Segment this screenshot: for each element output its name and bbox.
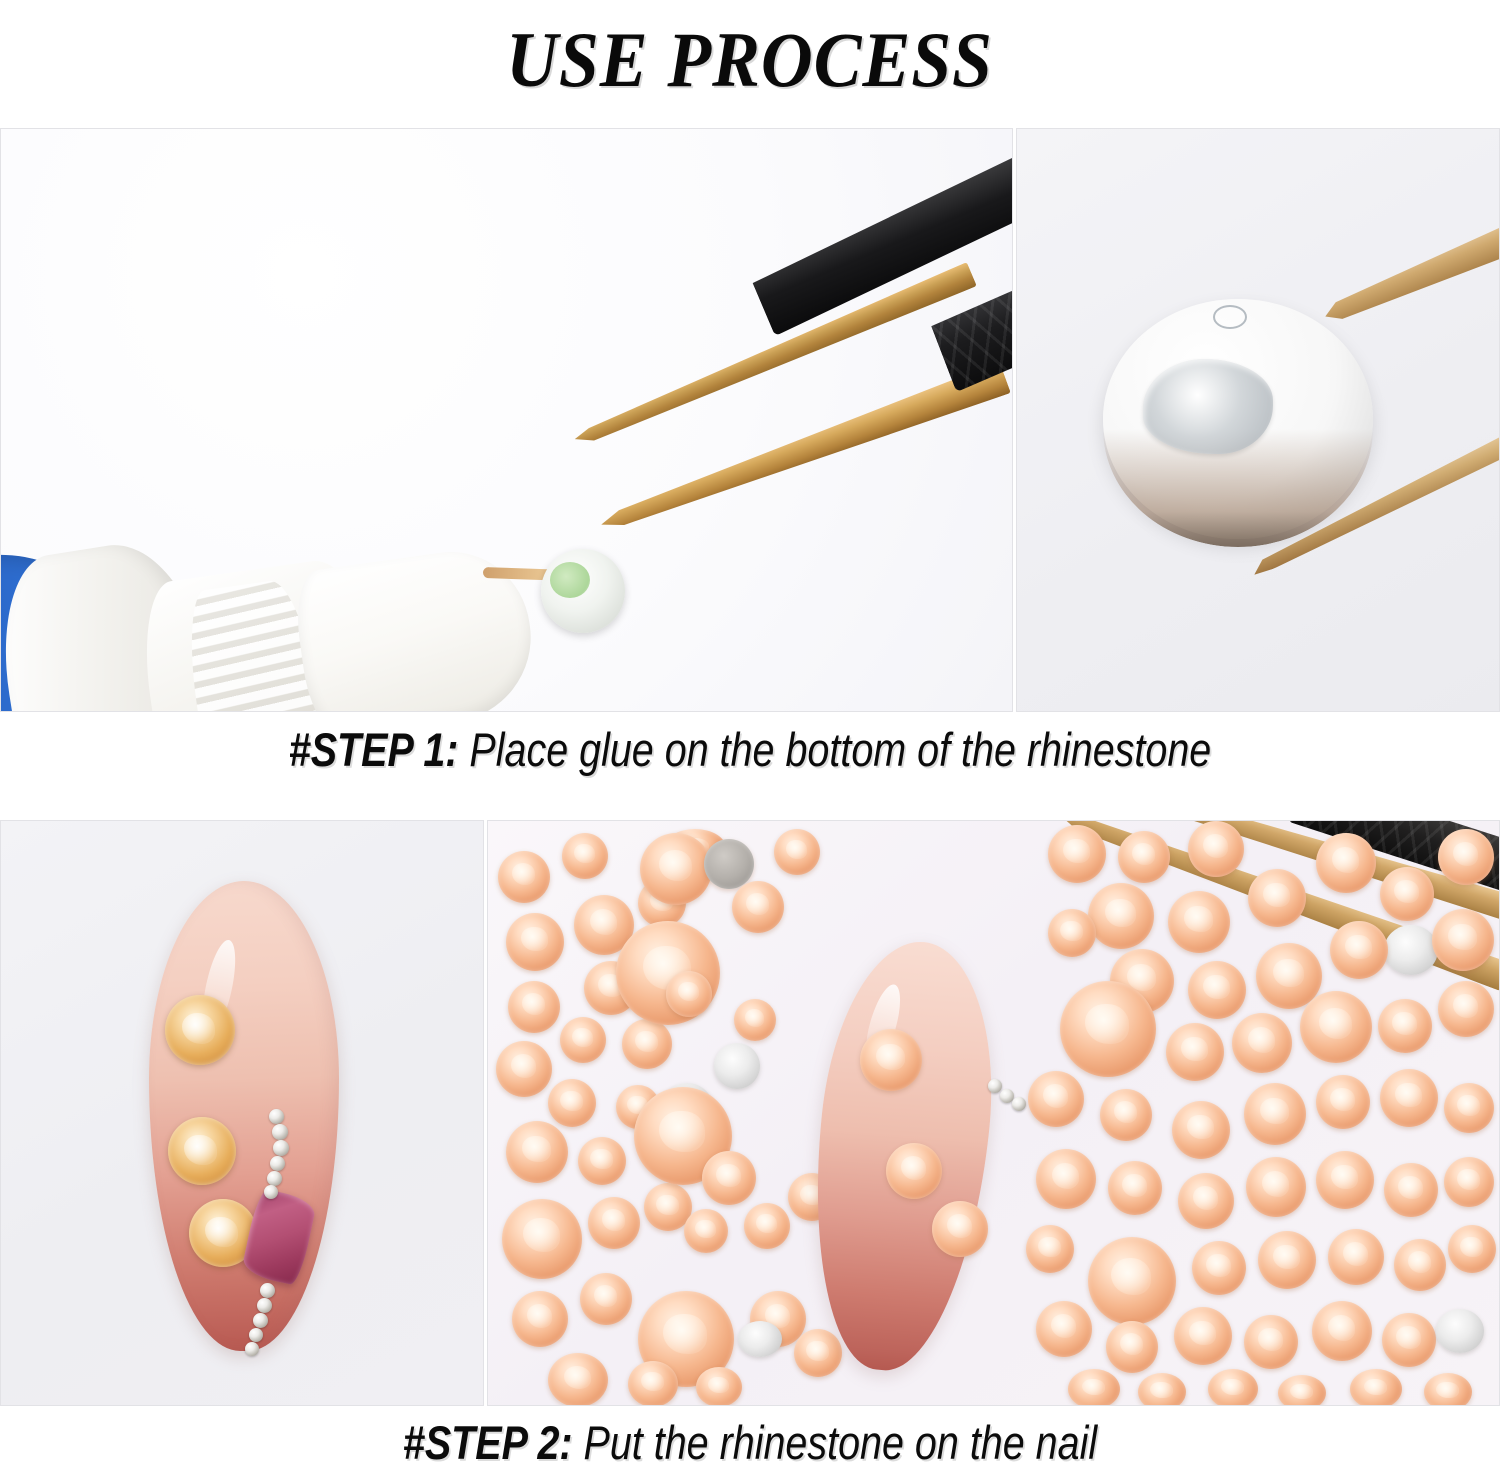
scatter-rhinestone [628,1361,678,1406]
scatter-rhinestone [1244,1083,1306,1145]
caviar-bead [253,1313,268,1328]
scatter-rhinestone [1248,869,1306,927]
step-1-photo-row [0,128,1500,712]
scatter-rhinestone [1188,821,1244,877]
scatter-rhinestone [1118,831,1170,883]
scatter-rhinestone-flat-back [1384,925,1438,975]
scatter-rhinestone [1036,1149,1096,1209]
scatter-rhinestone [560,1017,606,1063]
scatter-rhinestone [734,999,776,1041]
scatter-rhinestone [1138,1373,1186,1406]
nail-rhinestone-2 [932,1201,988,1257]
scatter-rhinestone [640,833,712,905]
rhinestone-being-placed [860,1029,922,1091]
scatter-rhinestone [506,913,564,971]
scatter-rhinestone [1380,867,1434,921]
scatter-rhinestone [1088,883,1154,949]
scatter-rhinestone [1316,1151,1374,1209]
scatter-rhinestone-flat-back [714,1043,760,1089]
scatter-rhinestone [1316,833,1376,893]
scatter-rhinestone-flat-back [1436,1309,1484,1353]
scatter-rhinestone [1106,1321,1158,1373]
caviar-bead [1012,1097,1026,1111]
scatter-rhinestone [580,1273,632,1325]
scatter-rhinestone [1380,1069,1438,1127]
scatter-rhinestone [1166,1023,1224,1081]
scatter-rhinestone [496,1041,552,1097]
scatter-rhinestone [666,971,712,1017]
scatter-rhinestone-gray-back [704,839,754,889]
glue-bottle-and-tweezers-photo [0,128,1013,712]
step-2-label: #STEP 2: [403,1416,573,1466]
scatter-rhinestone [1188,961,1246,1019]
scatter-rhinestone [1168,891,1230,953]
caviar-bead [245,1342,259,1356]
scatter-rhinestone [508,981,560,1033]
scatter-rhinestone [1382,1313,1436,1367]
nail-rhinestone-1 [886,1143,942,1199]
scatter-rhinestone [588,1197,640,1249]
scatter-rhinestone [1278,1375,1326,1406]
scatter-rhinestone [578,1137,626,1185]
scatter-rhinestone [506,1121,568,1183]
scatter-rhinestone [562,833,608,879]
nail-rhinestone-2 [168,1117,236,1185]
scatter-rhinestone [1172,1101,1230,1159]
caviar-bead [272,1124,288,1140]
scatter-rhinestone [744,1203,790,1249]
nail-rhinestone-1 [165,995,235,1065]
step-1-caption: #STEP 1: Place glue on the bottom of the… [120,722,1380,777]
scatter-rhinestone [774,829,820,875]
scatter-rhinestone-large [1060,981,1156,1077]
scatter-rhinestone [1448,1225,1496,1273]
scatter-rhinestone [1036,1301,1092,1357]
scatter-rhinestone [622,1019,672,1069]
scatter-rhinestone [1048,909,1096,957]
scatter-rhinestone [1258,1231,1316,1289]
scatter-rhinestone [1328,1229,1384,1285]
scatter-rhinestone-large [1088,1237,1176,1325]
glue-on-rhinestone-closeup-photo [1016,128,1500,712]
glue-drop [1143,359,1273,454]
use-process-infographic: USE PROCESS # [0,0,1500,1466]
scatter-rhinestone [1246,1157,1306,1217]
glue-air-bubble [1213,305,1247,329]
step-1-label: #STEP 1: [289,723,459,776]
caviar-bead [269,1109,284,1124]
scatter-rhinestone [702,1151,756,1205]
scatter-rhinestone-flat-back [738,1321,782,1357]
scatter-rhinestone [1444,1157,1494,1207]
caviar-bead [260,1283,275,1298]
scatter-rhinestone [1244,1315,1298,1369]
rhinestone-glue-sheen [550,562,590,598]
scatter-rhinestone [732,881,784,933]
caviar-bead [249,1328,263,1342]
scatter-rhinestone [1432,909,1494,971]
scatter-rhinestone [548,1353,608,1406]
scatter-rhinestone [1192,1241,1246,1295]
scatter-rhinestone [1330,921,1388,979]
scatter-rhinestone [696,1367,742,1406]
caviar-bead [267,1171,282,1186]
scatter-rhinestone [1178,1173,1234,1229]
scatter-rhinestone [1424,1373,1472,1406]
scatter-rhinestone [684,1209,728,1253]
scatter-rhinestone [1028,1071,1084,1127]
scatter-rhinestone [1378,999,1432,1053]
rhinestones-scatter-and-nail-photo [487,820,1500,1406]
scatter-rhinestone [794,1329,842,1377]
scatter-rhinestone [1384,1163,1438,1217]
decorated-nail-photo [0,820,484,1406]
scatter-rhinestone [1300,991,1372,1063]
step-2-caption: #STEP 2: Put the rhinestone on the nail [120,1415,1380,1466]
scatter-rhinestone [1048,825,1106,883]
title-bar: USE PROCESS [0,0,1500,120]
scatter-rhinestone [1100,1089,1152,1141]
scatter-rhinestone [1174,1307,1232,1365]
scatter-rhinestone [1316,1075,1370,1129]
caviar-bead [264,1185,278,1199]
scatter-rhinestone [1068,1369,1120,1406]
scatter-rhinestone [1312,1301,1372,1361]
scatter-rhinestone [498,851,550,903]
scatter-rhinestone [1350,1369,1402,1406]
scatter-rhinestone [1438,829,1494,885]
scatter-rhinestone [1026,1225,1074,1273]
caviar-bead [273,1140,289,1156]
scatter-rhinestone [1394,1239,1446,1291]
page-title: USE PROCESS [507,15,994,105]
step-2-text: Put the rhinestone on the nail [573,1416,1098,1466]
step-1-text: Place glue on the bottom of the rhinesto… [458,723,1211,776]
scatter-rhinestone [1108,1161,1162,1215]
scatter-rhinestone [1208,1369,1258,1406]
scatter-rhinestone [1444,1083,1494,1133]
scatter-rhinestone-large [502,1199,582,1279]
scatter-rhinestone [512,1291,568,1347]
caviar-bead [270,1156,285,1171]
scatter-rhinestone [548,1079,596,1127]
caviar-bead [988,1079,1002,1093]
scatter-rhinestone [1232,1013,1292,1073]
scatter-rhinestone [1438,981,1494,1037]
caviar-bead [257,1298,272,1313]
step-2-photo-row [0,820,1500,1406]
